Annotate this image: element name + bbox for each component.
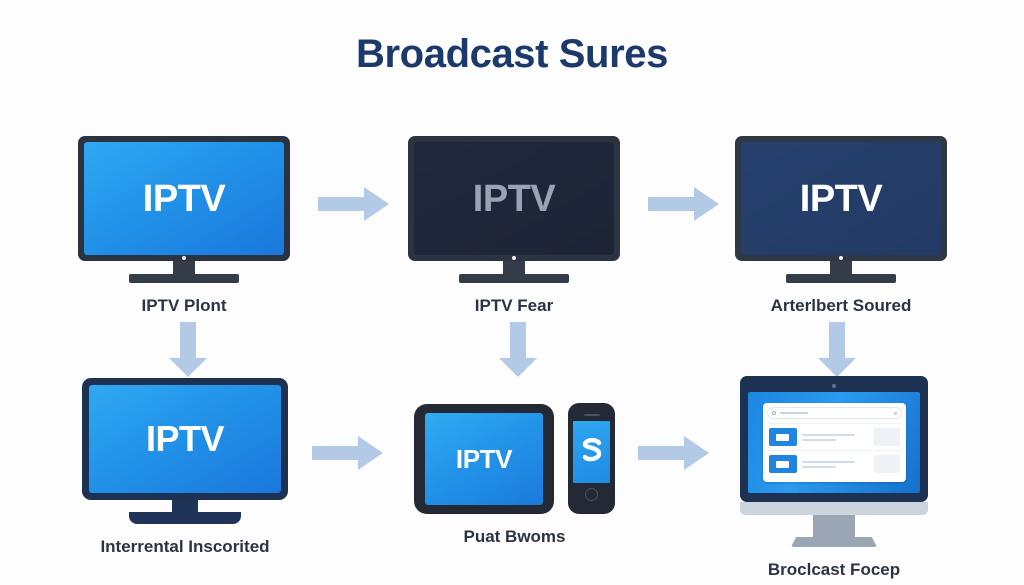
monitor-stand-base [791, 537, 877, 547]
list-item[interactable] [767, 423, 902, 450]
thumbnail-glyph-icon [776, 434, 789, 441]
phone-app-logo-icon [581, 437, 603, 467]
node-label: IPTV Fear [475, 296, 553, 316]
tv-power-led-icon [182, 256, 186, 260]
text-line [802, 439, 837, 441]
phone-speaker-icon [584, 414, 600, 416]
thumbnail-glyph-icon [776, 461, 789, 468]
list-item-side-panel [874, 428, 900, 446]
list-item-text [802, 461, 869, 468]
tv-power-led-icon [512, 256, 516, 260]
arrow-right-4 [638, 435, 710, 471]
tablet-phone-group: IPTV [414, 403, 615, 514]
node-label: Interrental Inscorited [100, 537, 269, 557]
tv-frame: IPTV [735, 136, 947, 261]
tv-screen: IPTV [414, 142, 614, 255]
thumbnail-icon [769, 428, 797, 446]
tablet-screen: IPTV [425, 413, 543, 505]
search-icon [772, 411, 776, 415]
flow-node-arterlbert-soured[interactable]: IPTV Arterlbert Soured [735, 136, 947, 316]
tv-screen-text: IPTV [473, 180, 555, 218]
tv-stand-neck [173, 261, 195, 274]
page-title: Broadcast Sures [0, 32, 1024, 77]
webcam-icon [832, 384, 836, 388]
search-bar[interactable] [767, 407, 902, 419]
node-label: IPTV Plont [142, 296, 227, 316]
flow-node-iptv-fear[interactable]: IPTV IPTV Fear [408, 136, 620, 316]
phone-screen [573, 421, 610, 483]
text-line [802, 434, 856, 436]
phone-device [568, 403, 615, 514]
app-window [763, 403, 906, 482]
arrow-down-3 [817, 322, 857, 378]
monitor-chin [740, 502, 928, 515]
tv-screen: IPTV [741, 142, 941, 255]
search-placeholder-text [780, 412, 808, 414]
television-device: IPTV [78, 136, 290, 283]
tv-screen-text: IPTV [143, 180, 225, 218]
diagram-canvas: Broadcast Sures IPTV IPTV Plont IPTV [0, 0, 1024, 585]
tv-screen-text: IPTV [800, 180, 882, 218]
tablet-device: IPTV [414, 404, 554, 514]
tv-frame: IPTV [82, 378, 288, 500]
tv-screen: IPTV [89, 385, 281, 493]
list-item-text [802, 434, 869, 441]
television-device: IPTV [735, 136, 947, 283]
tv-frame: IPTV [408, 136, 620, 261]
flow-node-broclcast-focep[interactable]: Broclcast Focep [740, 376, 928, 580]
flow-node-interrental-inscorited[interactable]: IPTV Interrental Inscorited [82, 378, 288, 557]
thumbnail-icon [769, 455, 797, 473]
arrow-down-1 [168, 322, 208, 378]
monitor-screen [748, 392, 920, 493]
monitor-stand-neck [813, 515, 855, 537]
tablet-screen-text: IPTV [456, 444, 512, 475]
tv-power-led-icon [839, 256, 843, 260]
flow-node-puat-bwoms[interactable]: IPTV Puat Bwoms [414, 403, 615, 547]
node-label: Puat Bwoms [463, 527, 565, 547]
phone-home-button-icon[interactable] [585, 488, 598, 501]
arrow-right-3 [312, 435, 384, 471]
node-label: Broclcast Focep [768, 560, 900, 580]
television-device: IPTV [408, 136, 620, 283]
text-line [802, 461, 856, 463]
tv-stand-base [786, 274, 896, 283]
tv-frame: IPTV [78, 136, 290, 261]
tv-stand-base [459, 274, 569, 283]
arrow-right-1 [318, 186, 390, 222]
arrow-down-2 [498, 322, 538, 378]
desktop-monitor-device [740, 376, 928, 547]
monitor-frame [740, 376, 928, 502]
tv-stand-neck [172, 500, 198, 512]
flow-node-iptv-plont[interactable]: IPTV IPTV Plont [78, 136, 290, 316]
television-device: IPTV [82, 378, 288, 524]
tv-stand-neck [503, 261, 525, 274]
text-line [802, 466, 837, 468]
node-label: Arterlbert Soured [771, 296, 912, 316]
tv-stand-neck [830, 261, 852, 274]
tv-screen-text: IPTV [146, 421, 224, 457]
tv-stand-base [129, 512, 241, 524]
list-item-side-panel [874, 455, 900, 473]
tv-stand-base [129, 274, 239, 283]
list-item[interactable] [767, 450, 902, 477]
tv-screen: IPTV [84, 142, 284, 255]
arrow-right-2 [648, 186, 720, 222]
close-icon[interactable] [894, 412, 897, 415]
